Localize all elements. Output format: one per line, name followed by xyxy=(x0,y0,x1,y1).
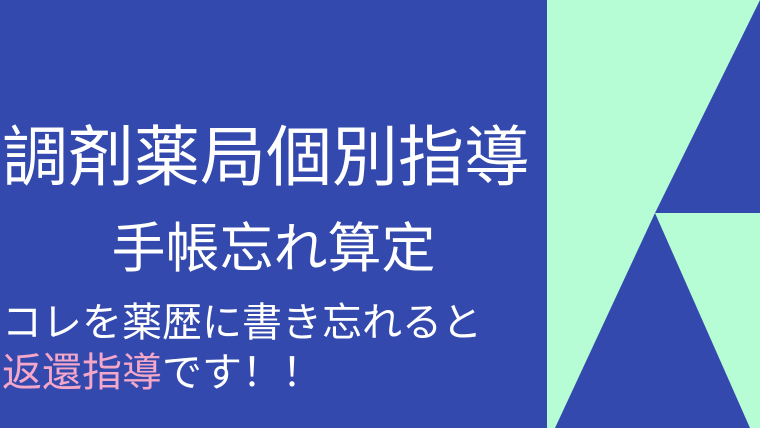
decoration-panel xyxy=(547,0,760,428)
text-block: 調剤薬局個別指導 手帳忘れ算定 コレを薬歴に書き忘れると 返還指導です！！ xyxy=(0,0,547,428)
lower-triangle-shape xyxy=(555,213,750,428)
upper-triangle-shape xyxy=(655,0,760,213)
subtitle-line-1: コレを薬歴に書き忘れると xyxy=(2,303,545,343)
headline-line-1: 調剤薬局個別指導 xyxy=(2,124,545,190)
k-shape-graphic xyxy=(547,0,760,428)
subtitle-line-2: 返還指導です！！ xyxy=(2,353,545,393)
slide-canvas: 調剤薬局個別指導 手帳忘れ算定 コレを薬歴に書き忘れると 返還指導です！！ xyxy=(0,0,760,428)
subtitle-plain-text: です！！ xyxy=(162,351,322,395)
subtitle-emphasis-text: 返還指導 xyxy=(2,351,162,395)
headline-line-2: 手帳忘れ算定 xyxy=(0,222,547,276)
